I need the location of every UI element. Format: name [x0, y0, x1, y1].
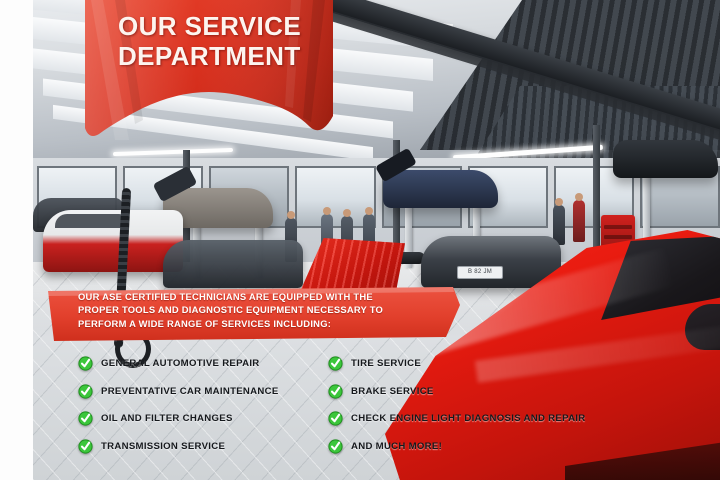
drawer: [604, 225, 632, 229]
license-plate: B 82 JM: [457, 266, 503, 279]
ribbon-line-3: PERFORM A WIDE RANGE OF SERVICES INCLUDI…: [78, 317, 428, 330]
green-check-circle-icon: [78, 384, 93, 399]
green-check-circle-icon: [78, 439, 93, 454]
list-item: TIRE SERVICE: [328, 350, 658, 378]
service-label: PREVENTATIVE CAR MAINTENANCE: [101, 386, 279, 397]
services-right-column: TIRE SERVICE BRAKE SERVICE: [328, 350, 658, 460]
car-on-lift: [383, 170, 498, 208]
list-item: AND MUCH MORE!: [328, 433, 658, 461]
services-left-column: GENERAL AUTOMOTIVE REPAIR PREVENTATIVE C…: [78, 350, 328, 460]
list-item: CHECK ENGINE LIGHT DIAGNOSIS AND REPAIR: [328, 405, 658, 433]
car-window: [55, 214, 125, 228]
drawer: [604, 235, 632, 239]
left-margin: [0, 0, 33, 480]
title-line-1: OUR SERVICE: [118, 11, 301, 41]
technician-head: [575, 193, 583, 201]
service-label: TIRE SERVICE: [351, 358, 421, 369]
green-check-circle-icon: [78, 411, 93, 426]
red-classic-car: [43, 210, 183, 272]
service-label: GENERAL AUTOMOTIVE REPAIR: [101, 358, 260, 369]
service-label: AND MUCH MORE!: [351, 441, 442, 452]
technician-head: [365, 207, 373, 215]
ribbon-line-1: OUR ASE CERTIFIED TECHNICIANS ARE EQUIPP…: [78, 290, 428, 303]
services-lists: GENERAL AUTOMOTIVE REPAIR PREVENTATIVE C…: [0, 350, 720, 460]
service-department-flyer: B 82 JM: [0, 0, 720, 480]
silver-car: B 82 JM: [421, 236, 561, 288]
service-label: CHECK ENGINE LIGHT DIAGNOSIS AND REPAIR: [351, 413, 586, 424]
green-check-circle-icon: [328, 439, 343, 454]
green-check-circle-icon: [328, 384, 343, 399]
technician: [573, 200, 585, 242]
info-ribbon-text: OUR ASE CERTIFIED TECHNICIANS ARE EQUIPP…: [78, 290, 428, 330]
service-label: TRANSMISSION SERVICE: [101, 441, 225, 452]
list-item: OIL AND FILTER CHANGES: [78, 405, 328, 433]
page-title: OUR SERVICE DEPARTMENT: [118, 12, 338, 71]
green-check-circle-icon: [328, 356, 343, 371]
parked-car: [163, 240, 303, 288]
technician-head: [343, 209, 351, 217]
list-item: GENERAL AUTOMOTIVE REPAIR: [78, 350, 328, 378]
title-line-2: DEPARTMENT: [118, 42, 338, 72]
ribbon-line-2: PROPER TOOLS AND DIAGNOSTIC EQUIPMENT NE…: [78, 303, 428, 316]
technician-head: [287, 211, 295, 219]
list-item: TRANSMISSION SERVICE: [78, 433, 328, 461]
service-label: OIL AND FILTER CHANGES: [101, 413, 233, 424]
green-check-circle-icon: [78, 356, 93, 371]
list-item: BRAKE SERVICE: [328, 378, 658, 406]
list-item: PREVENTATIVE CAR MAINTENANCE: [78, 378, 328, 406]
technician-head: [555, 198, 563, 206]
car-on-lift: [613, 140, 718, 178]
service-label: BRAKE SERVICE: [351, 386, 434, 397]
green-check-circle-icon: [328, 411, 343, 426]
technician-head: [323, 207, 331, 215]
